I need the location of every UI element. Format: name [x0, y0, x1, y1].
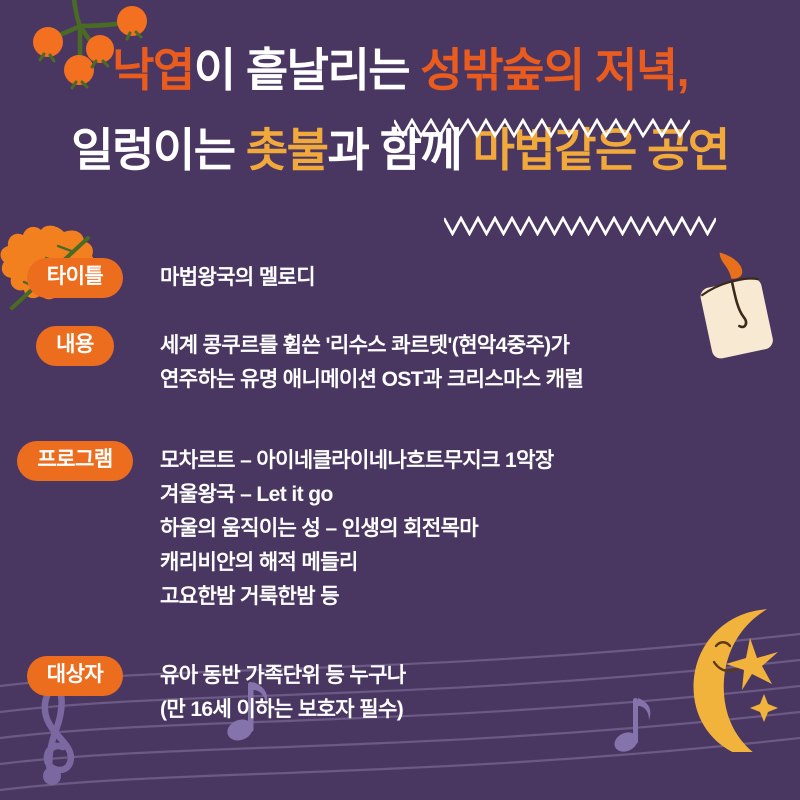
headline-line1-part1: 낙엽 — [112, 44, 194, 96]
text-column-title: 마법왕국의 멜로디 — [150, 258, 800, 295]
poster-headline: 낙엽이 흩날리는 성밖숲의 저녁, 일렁이는 촛불과 함께 마법같은 공연 — [0, 46, 800, 175]
badge-column: 프로그램 — [0, 441, 150, 481]
row-content: 내용 세계 콩쿠르를 휩쓴 '리수스 콰르텟'(현악4중주)가 연주하는 유명 … — [0, 326, 800, 397]
content-line-1: 세계 콩쿠르를 휩쓴 '리수스 콰르텟'(현악4중주)가 — [160, 329, 800, 363]
audience-line-1: 유아 동반 가족단위 등 누구나 — [160, 659, 800, 693]
badge-column: 대상자 — [0, 656, 150, 696]
badge-content: 내용 — [36, 326, 114, 366]
headline-line2-part1: 일렁이는 — [71, 124, 246, 176]
event-poster: 낙엽이 흩날리는 성밖숲의 저녁, 일렁이는 촛불과 함께 마법같은 공연 타이… — [0, 0, 800, 800]
content-line-2: 연주하는 유명 애니메이션 OST과 크리스마스 캐럴 — [160, 363, 800, 397]
row-audience: 대상자 유아 동반 가족단위 등 누구나 (만 16세 이하는 보호자 필수) — [0, 656, 800, 727]
content-line1-post: 가 — [551, 334, 570, 357]
text-column-audience: 유아 동반 가족단위 등 누구나 (만 16세 이하는 보호자 필수) — [150, 656, 800, 727]
program-item: 겨울왕국 – Let it go — [160, 478, 800, 512]
title-line-1: 마법왕국의 멜로디 — [160, 261, 800, 295]
program-item: 하울의 움직이는 성 – 인생의 회전목마 — [160, 512, 800, 546]
content-line1-emphasis: '리수스 콰르텟'(현악4중주) — [325, 334, 550, 357]
badge-column: 타이틀 — [0, 258, 150, 298]
headline-line1-part3: 성밖숲의 저녁, — [420, 44, 687, 96]
headline-line2-part2: 촛불 — [246, 124, 328, 176]
headline-line-1: 낙엽이 흩날리는 성밖숲의 저녁, — [0, 46, 800, 96]
row-title: 타이틀 마법왕국의 멜로디 — [0, 258, 800, 298]
zigzag-underline — [444, 216, 716, 236]
badge-title: 타이틀 — [27, 258, 123, 298]
badge-audience: 대상자 — [27, 656, 123, 696]
content-line1-pre: 세계 콩쿠르를 휩쓴 — [160, 334, 325, 357]
zigzag-underline — [394, 118, 690, 138]
headline-line1-part2: 이 흩날리는 — [194, 44, 421, 96]
row-program: 프로그램 모차르트 – 아이네클라이네나흐트무지크 1악장 겨울왕국 – Let… — [0, 441, 800, 614]
text-column-content: 세계 콩쿠르를 휩쓴 '리수스 콰르텟'(현악4중주)가 연주하는 유명 애니메… — [150, 326, 800, 397]
badge-program: 프로그램 — [17, 441, 132, 481]
info-section: 타이틀 마법왕국의 멜로디 내용 세계 콩쿠르를 휩쓴 '리수스 콰르텟'(현악… — [0, 258, 800, 727]
audience-line-2: (만 16세 이하는 보호자 필수) — [160, 693, 800, 727]
text-column-program: 모차르트 – 아이네클라이네나흐트무지크 1악장 겨울왕국 – Let it g… — [150, 441, 800, 614]
badge-column: 내용 — [0, 326, 150, 366]
program-item: 고요한밤 거룩한밤 등 — [160, 580, 800, 614]
program-item: 모차르트 – 아이네클라이네나흐트무지크 1악장 — [160, 444, 800, 478]
program-item: 캐리비안의 해적 메들리 — [160, 546, 800, 580]
